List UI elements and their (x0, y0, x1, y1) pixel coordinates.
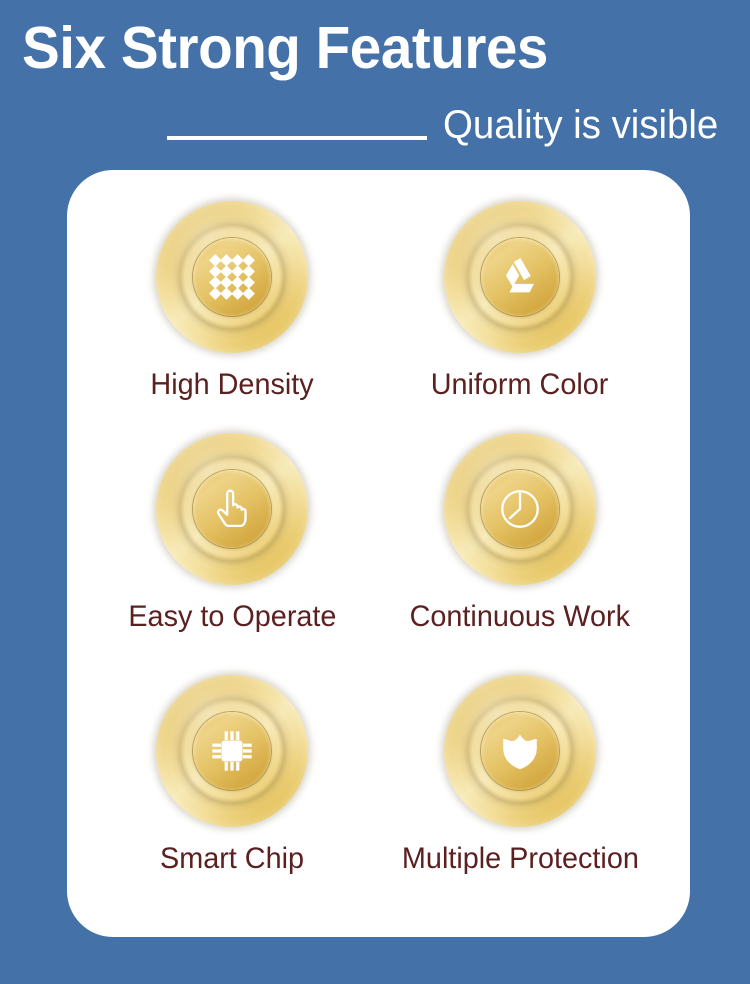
feature-label: High Density (150, 367, 313, 403)
feature-badge (156, 675, 308, 827)
badge-inner-disc (481, 712, 559, 790)
feature-label: Smart Chip (160, 841, 304, 877)
badge-inner-disc (193, 238, 271, 316)
page-subtitle: Quality is visible (443, 101, 718, 149)
divider-rule (167, 136, 427, 140)
microchip-icon (209, 728, 255, 774)
feature-label: Uniform Color (431, 367, 609, 403)
badge-inner-disc (481, 470, 559, 548)
feature-item-easy-to-operate[interactable]: Easy to Operate (82, 433, 382, 635)
checkerboard-diamonds-icon (209, 254, 255, 300)
poster-header: Six Strong Features Quality is visible (0, 0, 750, 170)
feature-badge (156, 433, 308, 585)
triangle-drive-icon (497, 254, 543, 300)
shield-icon (497, 728, 543, 774)
pointing-hand-icon (209, 486, 255, 532)
feature-label: Easy to Operate (128, 599, 336, 635)
feature-label: Continuous Work (410, 599, 630, 635)
feature-item-high-density[interactable]: High Density (82, 201, 382, 403)
subtitle-row: Quality is visible (167, 101, 730, 149)
badge-inner-disc (193, 712, 271, 790)
feature-item-continuous-work[interactable]: Continuous Work (370, 433, 670, 635)
feature-item-smart-chip[interactable]: Smart Chip (82, 675, 382, 877)
features-card: High Density Uniform Co (67, 170, 690, 937)
feature-badge (156, 201, 308, 353)
badge-inner-disc (481, 238, 559, 316)
feature-label: Multiple Protection (402, 841, 639, 877)
feature-item-uniform-color[interactable]: Uniform Color (370, 201, 670, 403)
badge-inner-disc (193, 470, 271, 548)
features-grid: High Density Uniform Co (67, 170, 690, 937)
clock-icon (497, 486, 543, 532)
feature-badge (444, 433, 596, 585)
feature-badge (444, 201, 596, 353)
feature-item-multiple-protection[interactable]: Multiple Protection (370, 675, 670, 877)
feature-poster: Six Strong Features Quality is visible (0, 0, 750, 984)
page-title: Six Strong Features (22, 14, 548, 84)
feature-badge (444, 675, 596, 827)
